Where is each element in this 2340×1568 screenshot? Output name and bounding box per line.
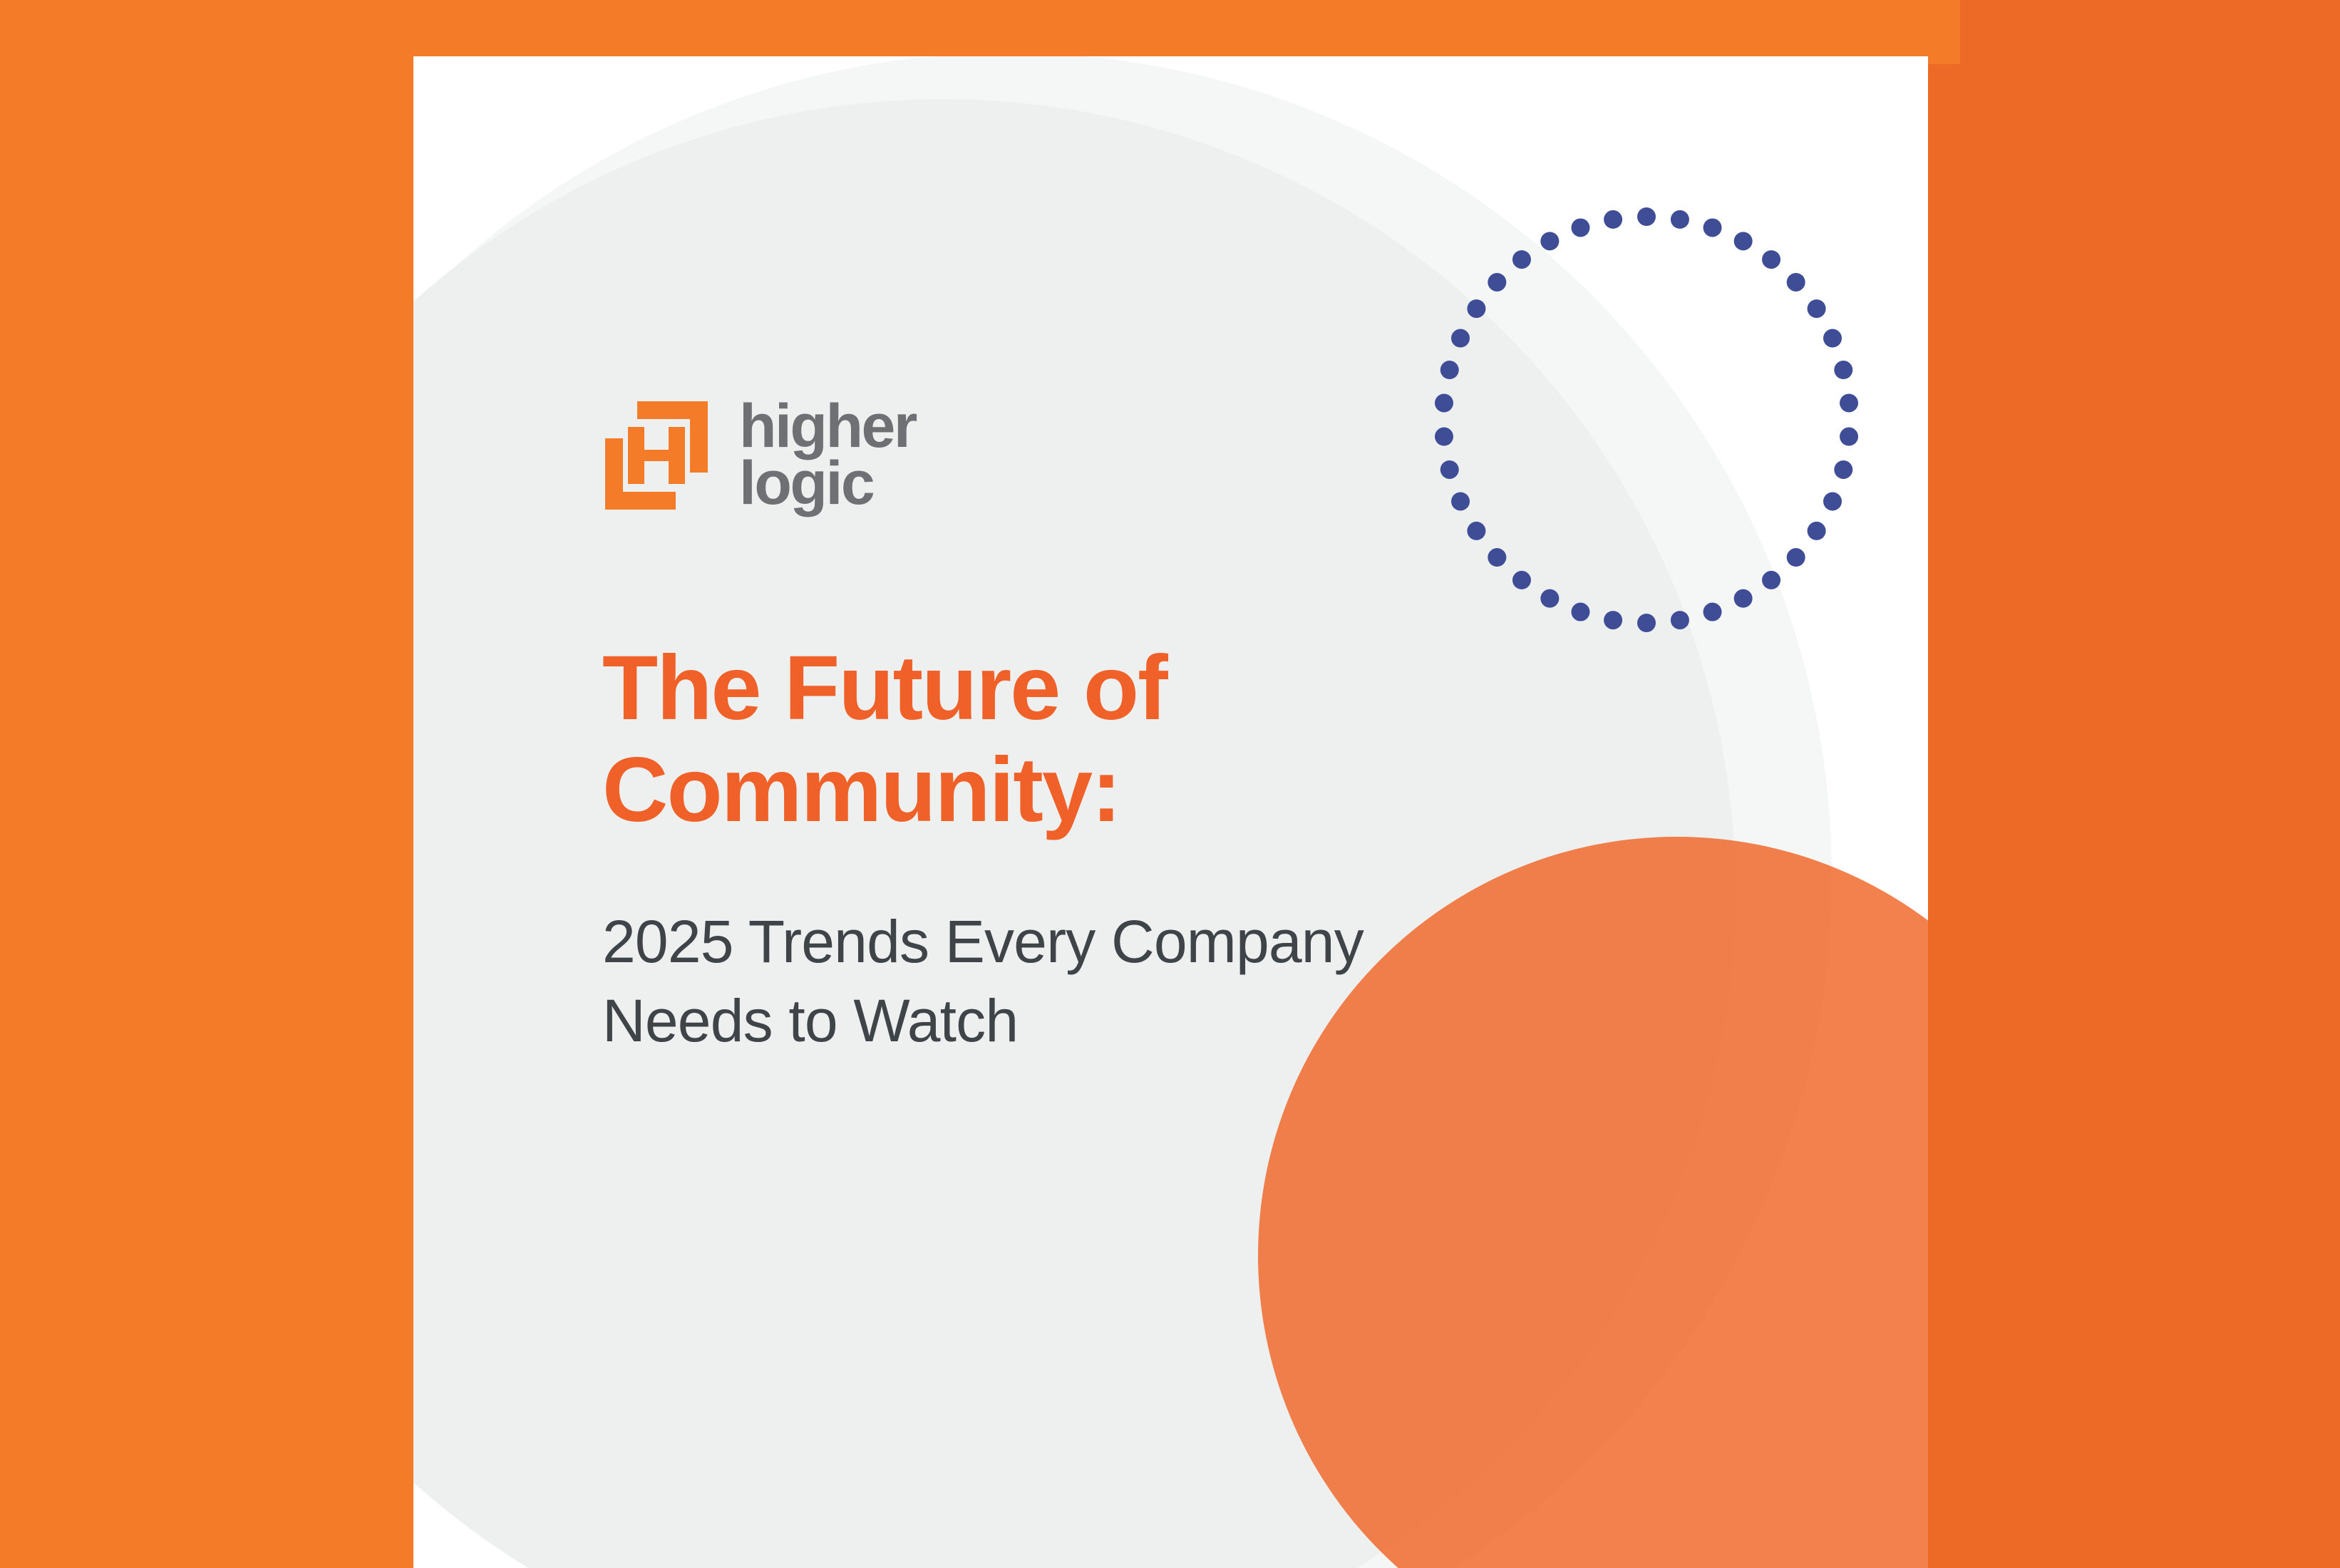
page-title: The Future of Community: bbox=[602, 637, 1386, 842]
wordmark-line-logic: logic bbox=[739, 455, 916, 512]
cover-card: higher logic The Future of Community: 20… bbox=[413, 56, 1928, 1568]
page-subtitle-line-2: Needs to Watch bbox=[602, 987, 1018, 1054]
cover-content: higher logic The Future of Community: 20… bbox=[602, 398, 1671, 1110]
wordmark-line-higher: higher bbox=[739, 398, 916, 455]
page-title-line-1: The Future of bbox=[602, 637, 1167, 739]
page-title-line-2: Community: bbox=[602, 739, 1120, 841]
higher-logic-bracket-h-mark-icon bbox=[602, 398, 711, 512]
cover-canvas: higher logic The Future of Community: 20… bbox=[0, 0, 2340, 1568]
higher-logic-logo: higher logic bbox=[602, 398, 1671, 512]
frame-background-top bbox=[0, 0, 1960, 64]
higher-logic-wordmark: higher logic bbox=[739, 398, 916, 512]
frame-background-left bbox=[0, 0, 428, 1568]
page-subtitle: 2025 Trends Every Company Needs to Watch bbox=[602, 902, 1386, 1061]
page-subtitle-line-1: 2025 Trends Every Company bbox=[602, 908, 1364, 975]
